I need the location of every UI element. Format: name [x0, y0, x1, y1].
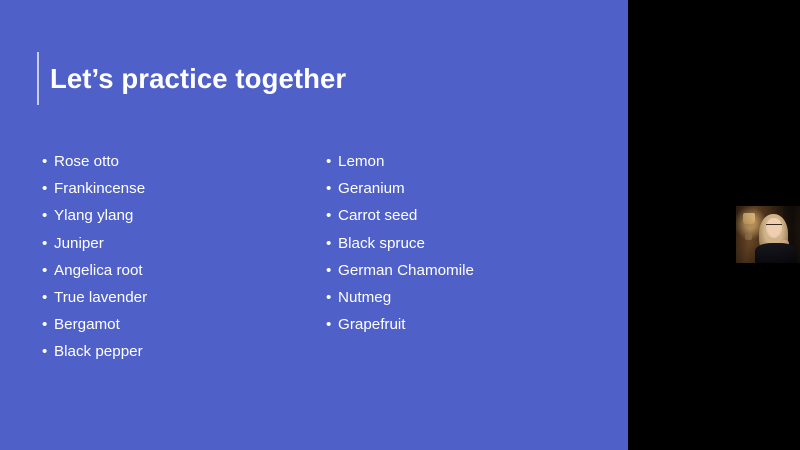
list-item-label: Black pepper [54, 338, 143, 365]
list-item: • Angelica root [42, 257, 312, 284]
list-item-label: Lemon [338, 148, 384, 175]
list-item: • Black pepper [42, 338, 312, 365]
list-item-label: Juniper [54, 230, 104, 257]
right-column: • Lemon • Geranium • Carrot seed • Black… [326, 148, 611, 338]
list-item: • German Chamomile [326, 257, 611, 284]
slide-canvas: Let’s practice together • Rose otto • Fr… [0, 0, 628, 450]
list-item: • Carrot seed [326, 202, 611, 229]
list-item-label: Grapefruit [338, 311, 406, 338]
list-item-label: Angelica root [54, 257, 143, 284]
list-item-label: Geranium [338, 175, 405, 202]
list-item-label: Rose otto [54, 148, 119, 175]
list-item: • Geranium [326, 175, 611, 202]
bullet-icon: • [42, 284, 54, 311]
list-item: • Nutmeg [326, 284, 611, 311]
bullet-icon: • [42, 148, 54, 175]
list-item-label: German Chamomile [338, 257, 474, 284]
list-item-label: Ylang ylang [54, 202, 133, 229]
bullet-icon: • [42, 257, 54, 284]
bullet-icon: • [326, 175, 338, 202]
list-item: • Grapefruit [326, 311, 611, 338]
list-item-label: True lavender [54, 284, 147, 311]
list-item-label: Black spruce [338, 230, 425, 257]
list-item: • Rose otto [42, 148, 312, 175]
bullet-icon: • [42, 175, 54, 202]
list-item: • Bergamot [42, 311, 312, 338]
bullet-icon: • [42, 202, 54, 229]
list-item: • Frankincense [42, 175, 312, 202]
presenter-video-thumbnail[interactable] [736, 206, 800, 263]
bullet-icon: • [326, 202, 338, 229]
list-item: • Black spruce [326, 230, 611, 257]
bullet-icon: • [42, 338, 54, 365]
bullet-icon: • [326, 257, 338, 284]
list-item: • Ylang ylang [42, 202, 312, 229]
bullet-icon: • [42, 311, 54, 338]
list-item: • Lemon [326, 148, 611, 175]
left-column: • Rose otto • Frankincense • Ylang ylang… [42, 148, 312, 366]
bullet-icon: • [326, 284, 338, 311]
bullet-icon: • [326, 148, 338, 175]
list-item-label: Bergamot [54, 311, 120, 338]
list-item-label: Nutmeg [338, 284, 391, 311]
slide-title-block: Let’s practice together [37, 52, 346, 105]
list-item: • Juniper [42, 230, 312, 257]
list-item-label: Carrot seed [338, 202, 417, 229]
bullet-icon: • [42, 230, 54, 257]
page-title: Let’s practice together [50, 65, 346, 93]
video-vignette [736, 206, 800, 263]
title-accent-bar [37, 52, 39, 105]
list-item: • True lavender [42, 284, 312, 311]
list-item-label: Frankincense [54, 175, 145, 202]
presentation-viewer: Let’s practice together • Rose otto • Fr… [0, 0, 800, 450]
bullet-icon: • [326, 230, 338, 257]
bullet-icon: • [326, 311, 338, 338]
